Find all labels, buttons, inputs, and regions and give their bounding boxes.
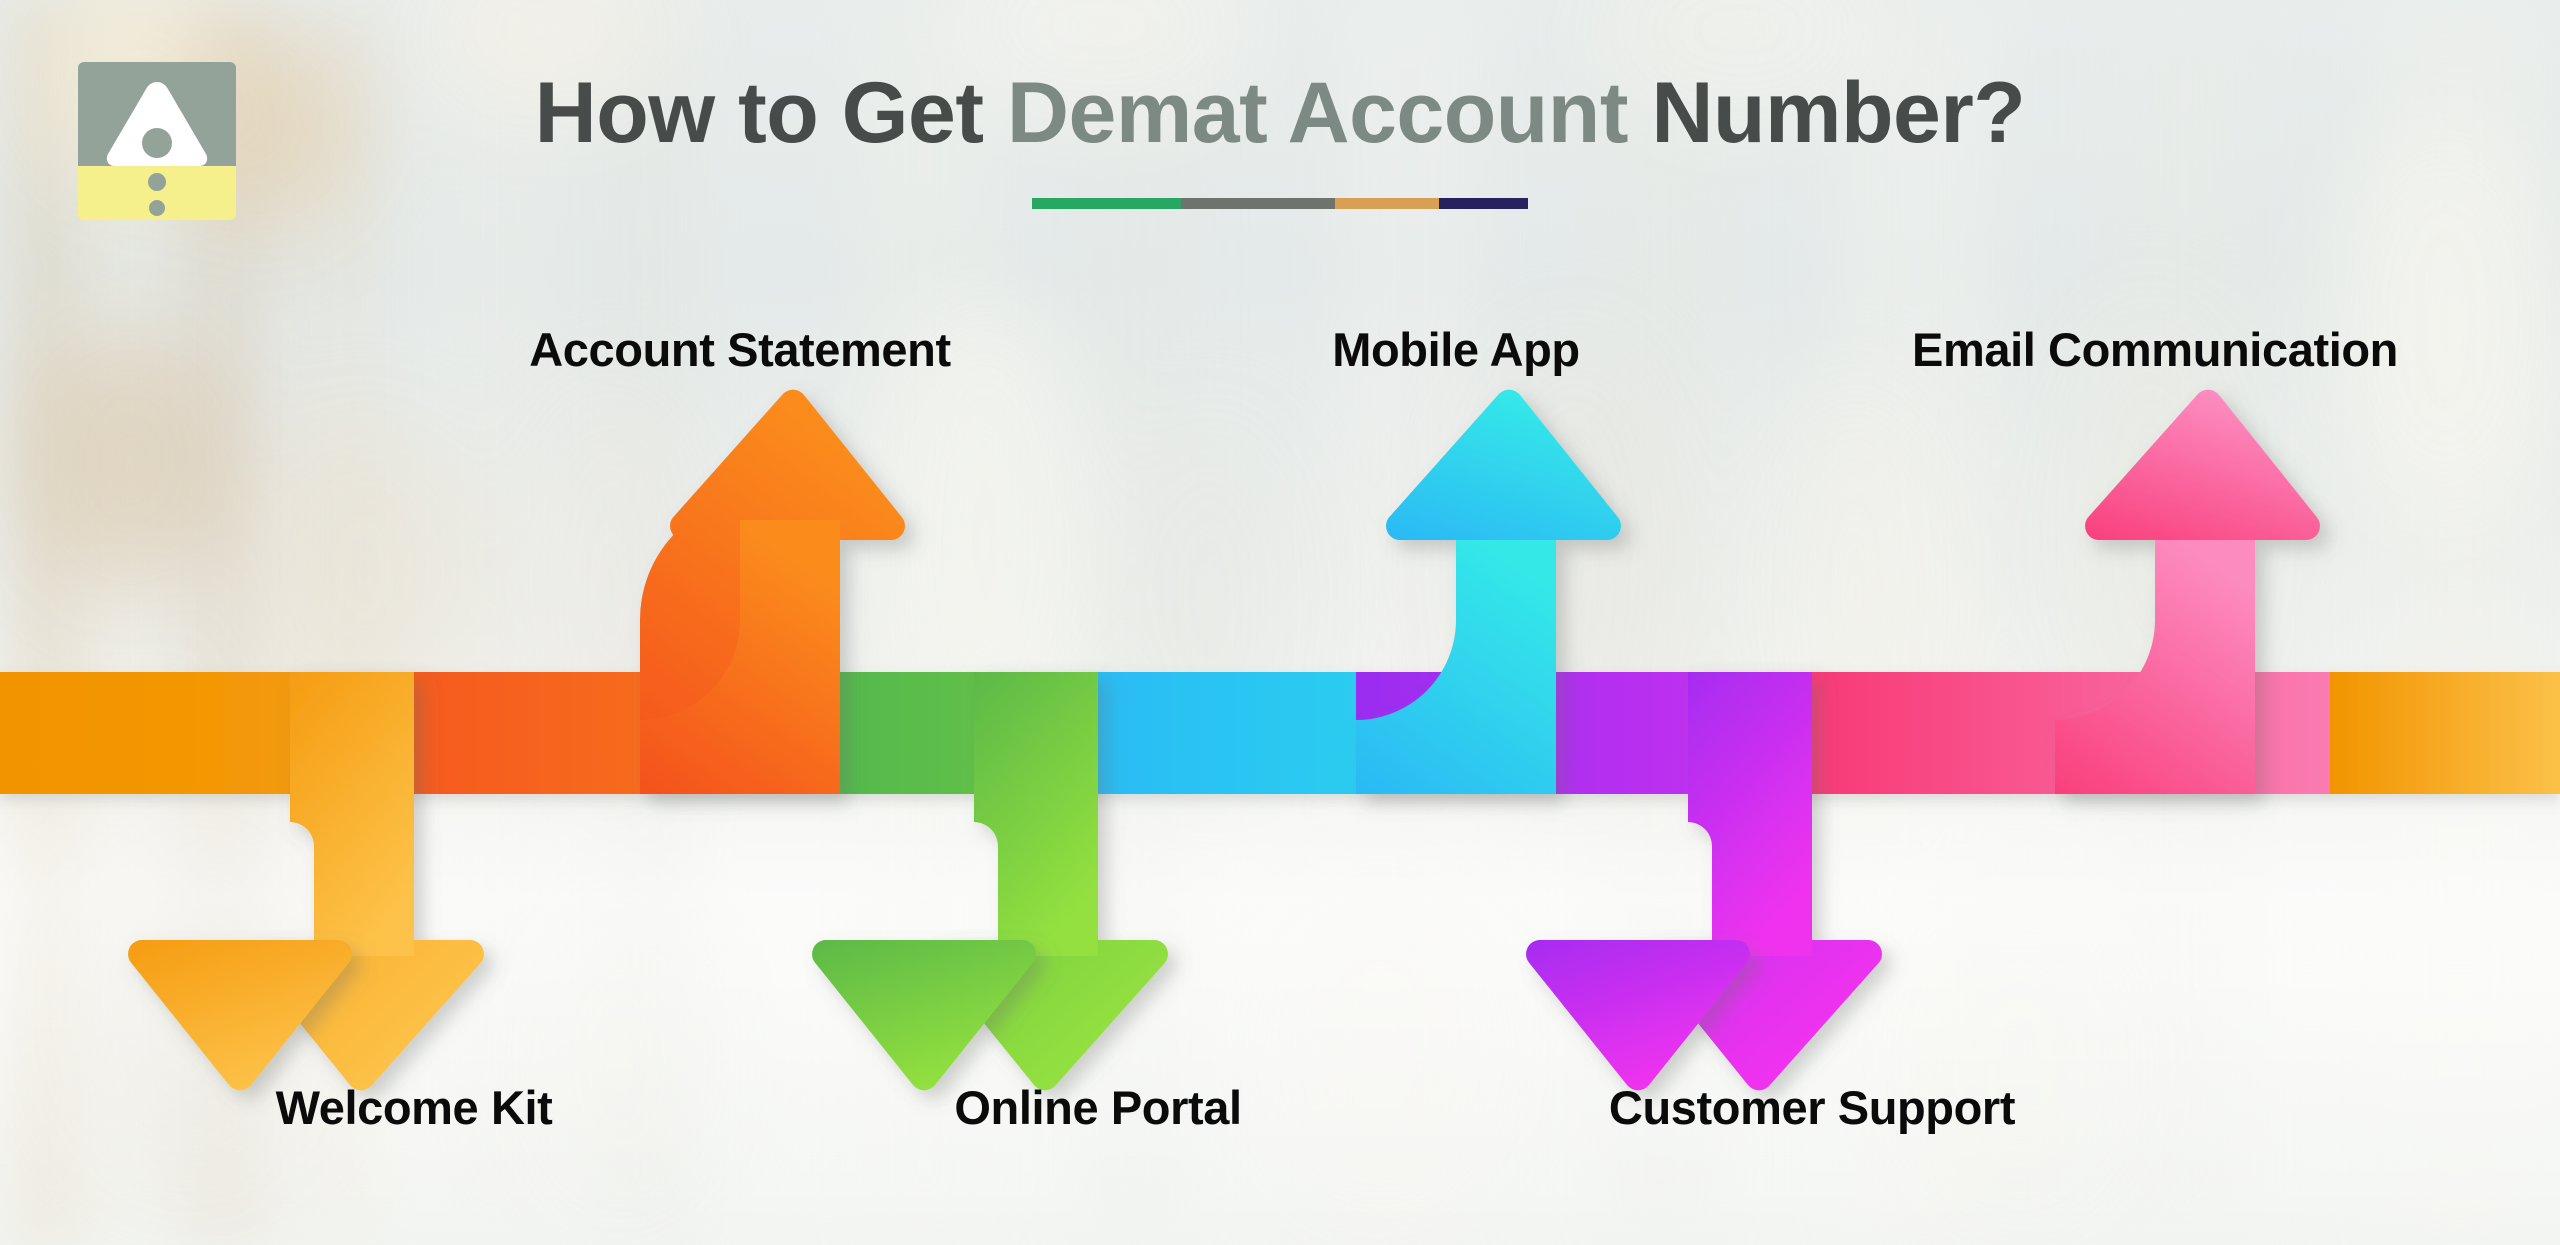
label-online-portal: Online Portal bbox=[954, 1080, 1241, 1135]
label-account-statement: Account Statement bbox=[529, 322, 950, 377]
arrow-email-communication-stem bbox=[2055, 520, 2255, 794]
process-flow-diagram bbox=[0, 0, 2560, 1245]
arrow-customer-support-elbow-fill bbox=[1688, 672, 1812, 956]
label-customer-support: Customer Support bbox=[1609, 1080, 2015, 1135]
infographic-canvas: How to Get Demat Account Number? bbox=[0, 0, 2560, 1245]
label-welcome-kit: Welcome Kit bbox=[276, 1080, 553, 1135]
label-email-communication: Email Communication bbox=[1912, 322, 2398, 377]
ribbon-segment-tail bbox=[2330, 672, 2560, 794]
arrow-welcome-kit-elbow-fill bbox=[290, 672, 414, 956]
arrow-online-portal-elbow-fill bbox=[974, 672, 1098, 956]
label-mobile-app: Mobile App bbox=[1332, 322, 1580, 377]
arrow-mobile-app-head bbox=[1386, 390, 1621, 540]
arrow-mobile-app-stem bbox=[1356, 520, 1556, 794]
arrow-email-communication-head bbox=[2085, 390, 2320, 540]
